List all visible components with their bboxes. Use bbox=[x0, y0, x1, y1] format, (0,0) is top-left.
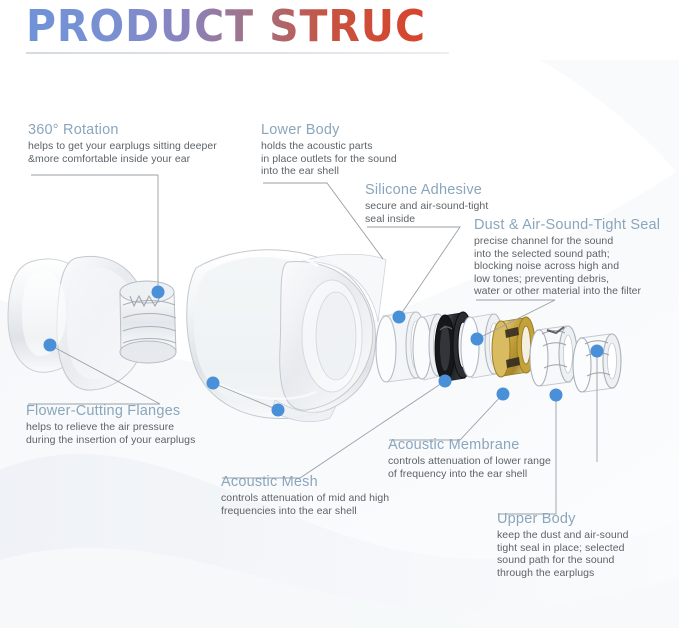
marker-flower-cutting-flanges bbox=[44, 339, 57, 352]
product-structure-diagram: PRODUCT STRUCTURE bbox=[0, 0, 679, 628]
marker-acoustic-membrane bbox=[497, 388, 510, 401]
marker-acoustic-mesh bbox=[439, 375, 452, 388]
marker-silicone-adhesive bbox=[393, 311, 406, 324]
markers bbox=[0, 0, 679, 628]
marker-upper-body-left bbox=[550, 389, 563, 402]
marker-lower-body-bottom bbox=[272, 404, 285, 417]
marker-lower-body-left bbox=[207, 377, 220, 390]
marker-dust-seal bbox=[471, 333, 484, 346]
marker-upper-body-right bbox=[591, 345, 604, 358]
marker-rotation bbox=[152, 286, 165, 299]
